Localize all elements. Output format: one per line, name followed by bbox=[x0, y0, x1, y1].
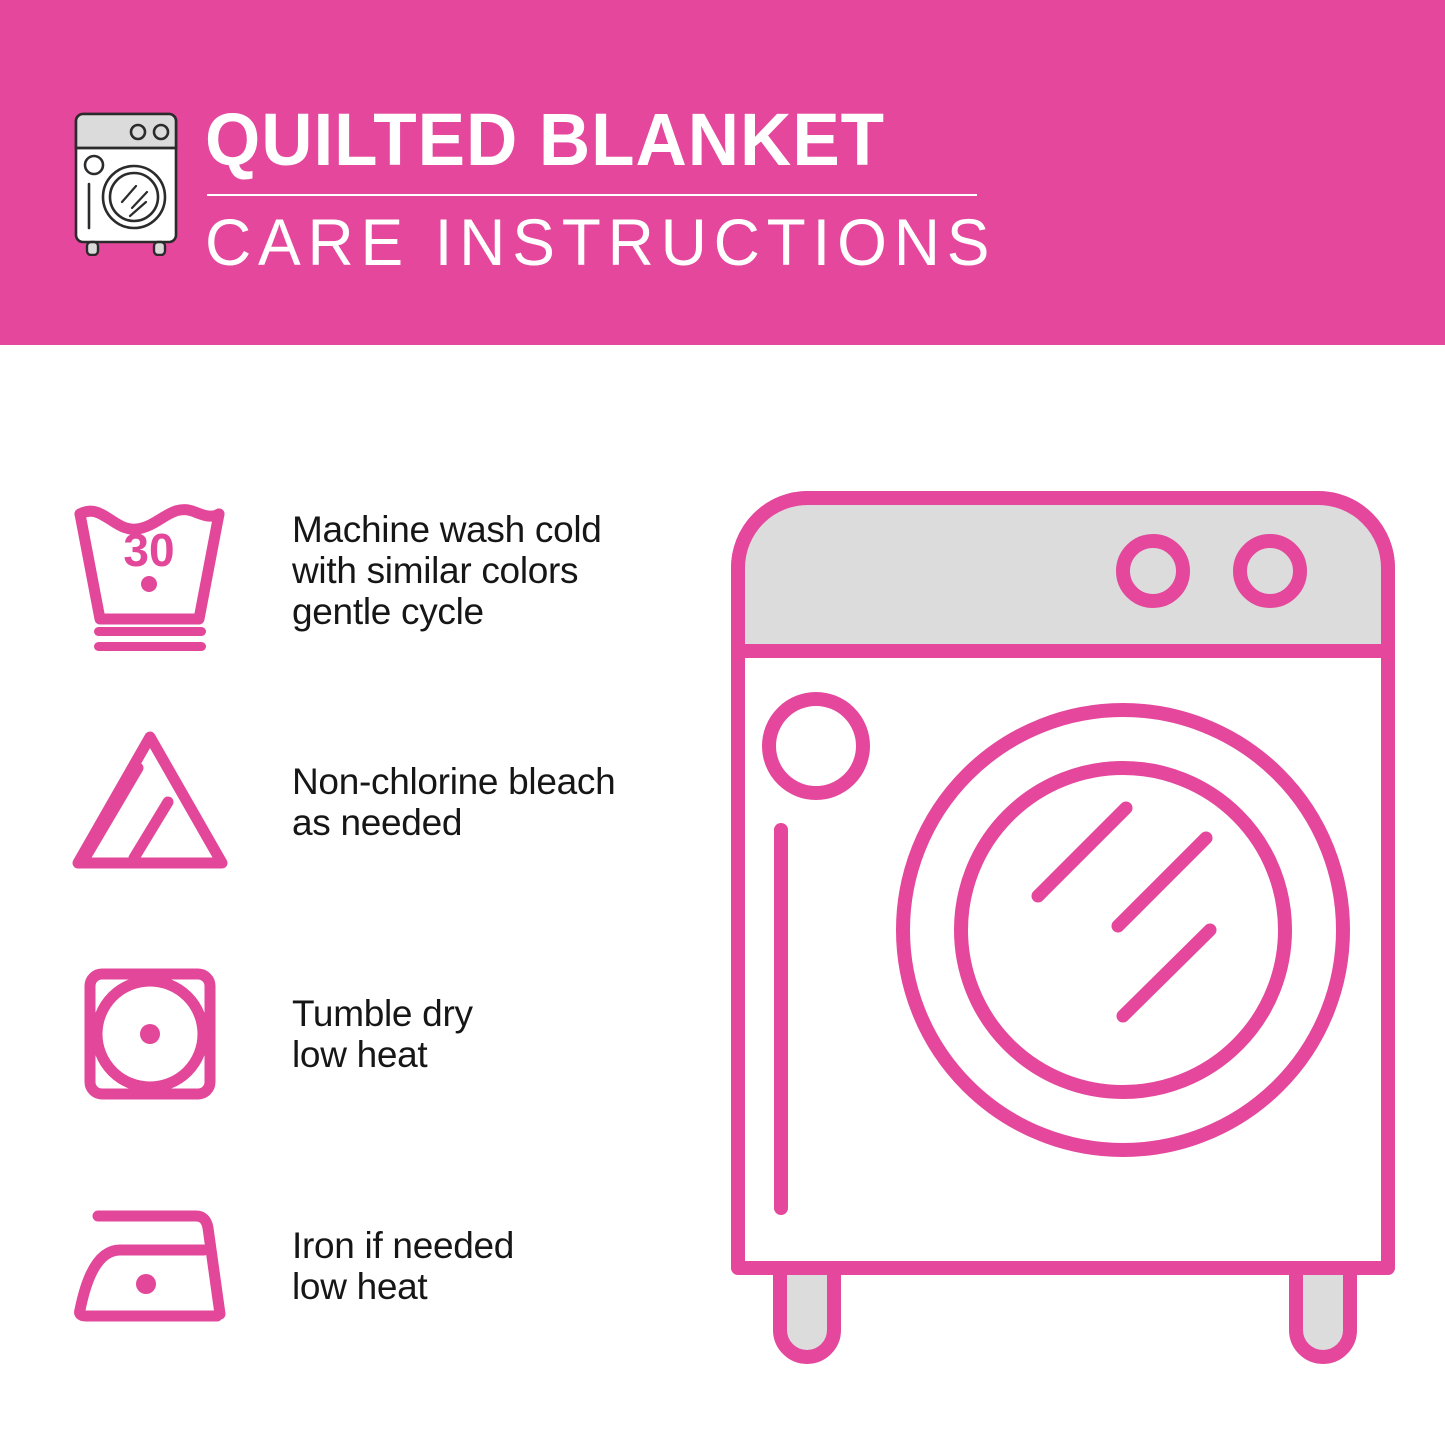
instruction-line: gentle cycle bbox=[292, 591, 602, 632]
knob-left bbox=[1123, 541, 1183, 601]
instruction-list: 30 Machine wash cold with similar colors… bbox=[62, 480, 682, 1408]
instruction-line: Machine wash cold bbox=[292, 509, 602, 550]
instruction-line: low heat bbox=[292, 1266, 514, 1307]
instruction-row-bleach: Non-chlorine bleach as needed bbox=[62, 712, 682, 892]
instruction-text-wash: Machine wash cold with similar colors ge… bbox=[292, 509, 602, 632]
instruction-row-tumble-dry: Tumble dry low heat bbox=[62, 944, 682, 1124]
header-band: QUILTED BLANKET CARE INSTRUCTIONS bbox=[0, 0, 1445, 345]
instruction-text-bleach: Non-chlorine bleach as needed bbox=[292, 761, 615, 843]
instruction-line: Non-chlorine bleach bbox=[292, 761, 615, 802]
instruction-line: low heat bbox=[292, 1034, 473, 1075]
title-divider bbox=[207, 194, 977, 196]
instruction-line: Iron if needed bbox=[292, 1225, 514, 1266]
detergent-port bbox=[769, 699, 863, 793]
instruction-line: with similar colors bbox=[292, 550, 602, 591]
instruction-text-iron: Iron if needed low heat bbox=[292, 1225, 514, 1307]
washing-machine-icon bbox=[62, 104, 190, 256]
wash-temperature-value: 30 bbox=[123, 524, 174, 576]
page-subtitle: CARE INSTRUCTIONS bbox=[205, 206, 971, 278]
page-title: QUILTED BLANKET bbox=[205, 100, 963, 180]
instruction-text-tumble-dry: Tumble dry low heat bbox=[292, 993, 473, 1075]
leg-right bbox=[1296, 1268, 1350, 1357]
non-chlorine-bleach-triangle-icon bbox=[62, 720, 237, 885]
leg-left bbox=[780, 1268, 834, 1357]
instruction-row-iron: Iron if needed low heat bbox=[62, 1176, 682, 1356]
instruction-line: as needed bbox=[292, 802, 615, 843]
instruction-row-wash: 30 Machine wash cold with similar colors… bbox=[62, 480, 682, 660]
care-instructions-infographic: QUILTED BLANKET CARE INSTRUCTIONS 30 bbox=[0, 0, 1445, 1445]
instruction-line: Tumble dry bbox=[292, 993, 473, 1034]
header-title-block: QUILTED BLANKET CARE INSTRUCTIONS bbox=[205, 100, 995, 278]
iron-low-heat-icon bbox=[62, 1184, 237, 1349]
large-washing-machine-illustration bbox=[718, 478, 1408, 1368]
knob-right bbox=[1240, 541, 1300, 601]
tumble-dry-low-heat-icon bbox=[62, 952, 237, 1117]
wash-tub-30-gentle-icon: 30 bbox=[62, 488, 237, 653]
